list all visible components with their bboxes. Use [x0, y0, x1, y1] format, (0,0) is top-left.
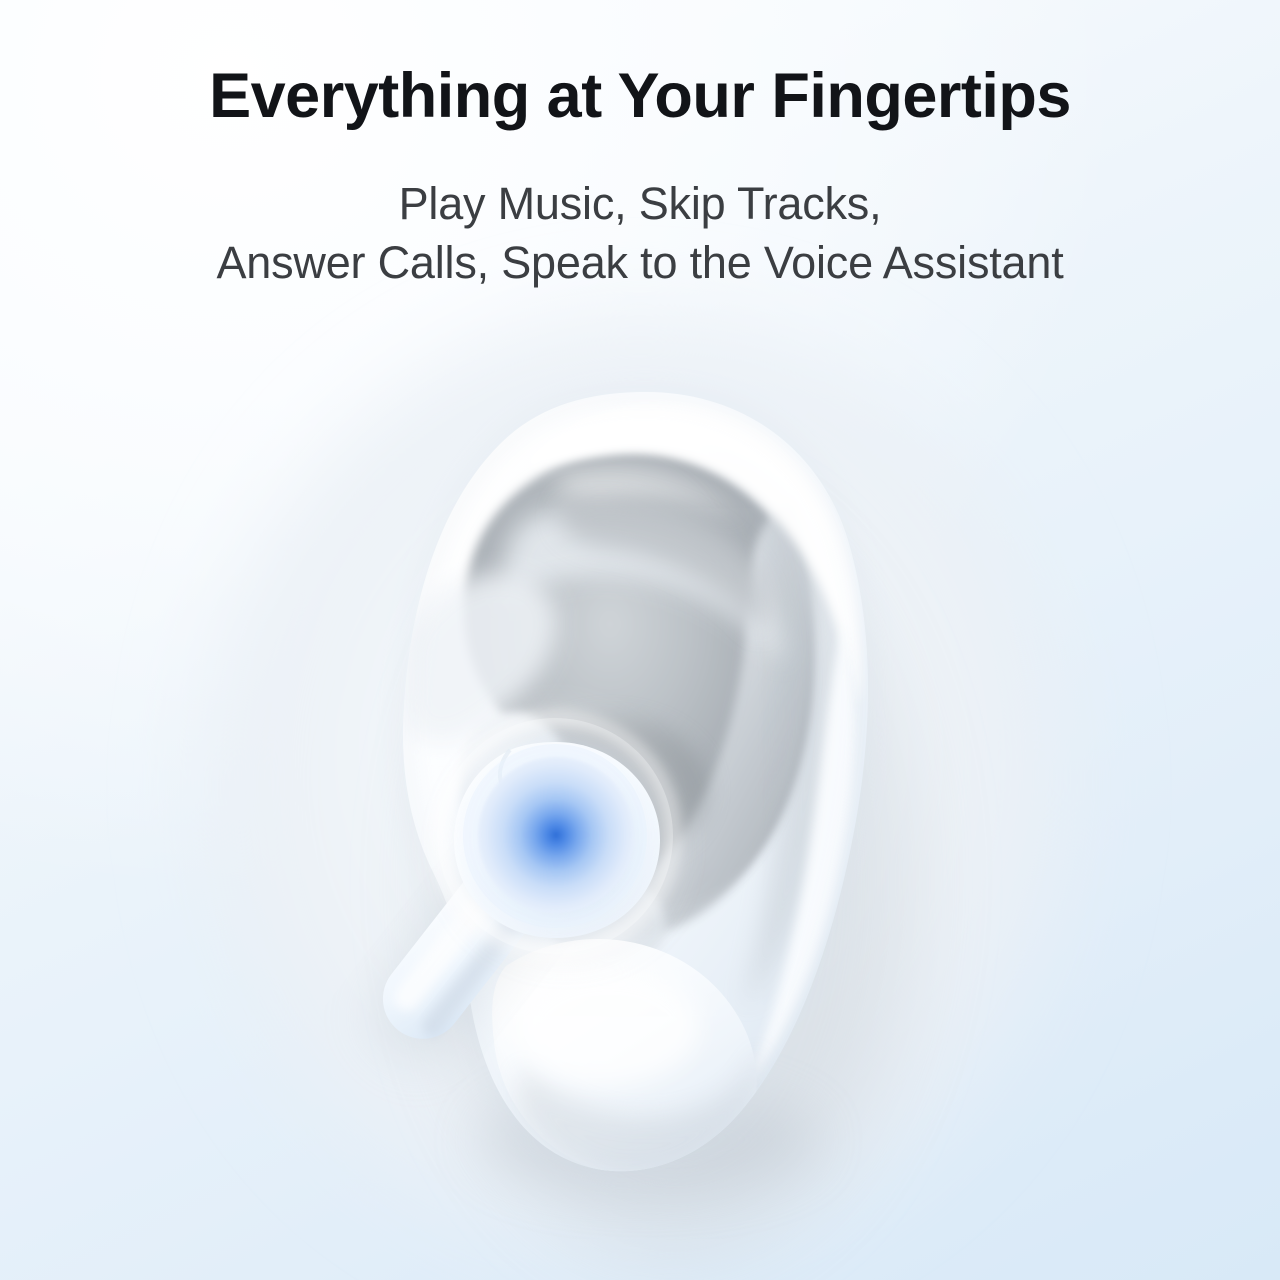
page-title: Everything at Your Fingertips: [0, 0, 1280, 130]
promo-banner: Everything at Your Fingertips Play Music…: [0, 0, 1280, 1280]
subtitle-line-2: Answer Calls, Speak to the Voice Assista…: [0, 233, 1280, 292]
subtitle-line-1: Play Music, Skip Tracks,: [0, 174, 1280, 233]
ear-lobe-highlight: [516, 968, 700, 1084]
page-subtitle: Play Music, Skip Tracks, Answer Calls, S…: [0, 130, 1280, 293]
copy-block: Everything at Your Fingertips Play Music…: [0, 0, 1280, 293]
